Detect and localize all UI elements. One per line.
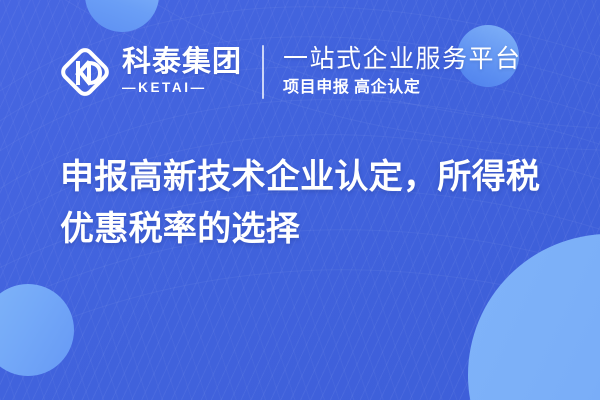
banner-header: 科泰集团 —KETAI— 一站式企业服务平台 项目申报 高企认定	[0, 34, 600, 110]
brand-wordmark: 科泰集团 —KETAI—	[122, 47, 242, 97]
brand-logo[interactable]: 科泰集团 —KETAI—	[58, 45, 242, 99]
banner-title: 申报高新技术企业认定，所得税优惠税率的选择	[60, 152, 568, 255]
brand-wordmark-cn: 科泰集团	[122, 47, 242, 77]
decoration-circle-bottom-left	[0, 284, 74, 376]
header-subtagline: 项目申报 高企认定	[283, 77, 522, 99]
brand-wordmark-en: —KETAI—	[122, 79, 242, 97]
decoration-circle-top	[85, 0, 159, 32]
promo-banner: 科泰集团 —KETAI— 一站式企业服务平台 项目申报 高企认定 申报高新技术企…	[0, 0, 600, 400]
decoration-circle-bottom-right	[468, 234, 600, 400]
header-tagline: 一站式企业服务平台	[283, 45, 522, 75]
header-tagline-block: 一站式企业服务平台 项目申报 高企认定	[283, 45, 522, 98]
ketai-diamond-logo-icon	[58, 45, 112, 99]
header-vertical-divider	[262, 45, 264, 99]
